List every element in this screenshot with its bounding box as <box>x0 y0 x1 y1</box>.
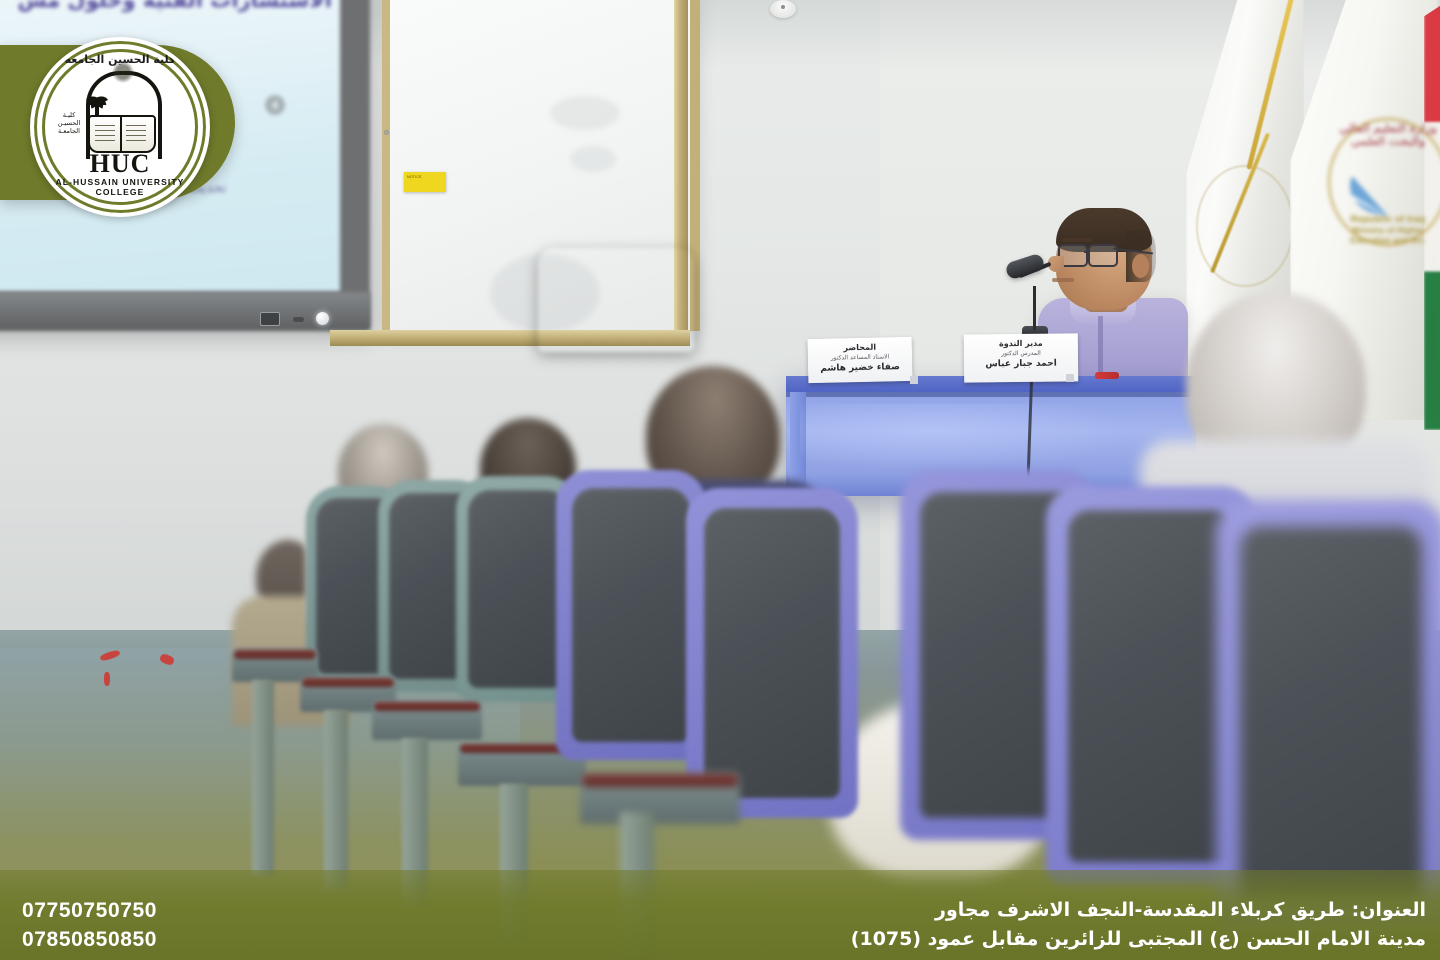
ministry-emblem-sun-icon <box>1350 156 1426 216</box>
nameplate-stand-a <box>910 376 918 384</box>
display-menu-button[interactable] <box>293 317 304 322</box>
address-line-2: مدينة الامام الحسن (ع) المجتبى للزائرين … <box>851 928 1426 950</box>
slide-title: الاستشارات الفنية وحلول مش <box>0 0 332 12</box>
college-logo-badge: كلية الحسين الجامعة كليـة الحسيـن الجامع… <box>0 45 235 200</box>
phone-number-2: 07850850850 <box>22 928 157 952</box>
college-seal-icon: كلية الحسين الجامعة كليـة الحسيـن الجامع… <box>30 37 210 217</box>
seat-leg <box>324 710 348 890</box>
phone-number-1: 07750750750 <box>22 899 157 923</box>
auditorium-seat-front[interactable] <box>1216 500 1440 930</box>
sticky-note: NOTICE <box>404 172 446 192</box>
sticky-note-text: NOTICE <box>404 172 446 183</box>
eyeglasses-icon <box>1058 244 1114 264</box>
nameplate-moderator-name: احمد جبار عباس <box>964 357 1078 370</box>
seat-armrest-front <box>580 772 740 824</box>
marker-pen <box>1095 372 1119 379</box>
display-bezel <box>0 292 370 330</box>
seat-leg <box>252 680 274 876</box>
ministry-emblem-arabic: وزارة التعليم العالي والبحث العلمي <box>1329 122 1440 148</box>
nameplate-lecturer: المحاضر الاستاذ المساعد الدكتور صفاء خضي… <box>808 337 913 383</box>
ministry-emblem-en3: Education and Sci. <box>1328 236 1440 245</box>
open-book-icon <box>88 115 156 153</box>
nameplate-stand-b <box>1066 374 1074 382</box>
ministry-emblem: وزارة التعليم العالي والبحث العلمي Repub… <box>1328 118 1440 246</box>
whiteboard-screw <box>384 130 389 135</box>
seminar-photo-with-branding: الاستشارات الفنية وحلول مش ـار ـويـ ـرية… <box>0 0 1440 960</box>
address-line-1: العنوان: طريق كربلاء المقدسة-النجف الاشر… <box>935 899 1426 921</box>
nameplate-moderator: مدير الندوة المدرس الدكتور احمد جبار عبا… <box>964 333 1078 382</box>
chevron-left-icon[interactable] <box>265 95 285 115</box>
seal-english-name: AL-HUSSAIN UNIVERSITY COLLEGE <box>34 177 206 197</box>
smoke-detector-icon <box>770 0 796 18</box>
ministry-emblem-en2: Ministry of Higher <box>1328 226 1440 235</box>
auditorium-seat-front[interactable] <box>556 470 706 760</box>
seat-armrest <box>372 700 482 740</box>
microphone-stem <box>1033 286 1036 330</box>
display-source-button[interactable] <box>260 312 280 326</box>
seal-acronym: HUC <box>34 149 206 179</box>
nameplate-lecturer-name: صفاء خضير هاشم <box>808 361 912 375</box>
auditorium-seat-front[interactable] <box>686 488 858 818</box>
display-power-led-icon[interactable] <box>316 312 329 325</box>
seal-inner-arabic: كليـة الحسيـن الجامعـة <box>56 111 82 135</box>
ministry-emblem-en1: Republic of Iraq <box>1332 214 1440 225</box>
